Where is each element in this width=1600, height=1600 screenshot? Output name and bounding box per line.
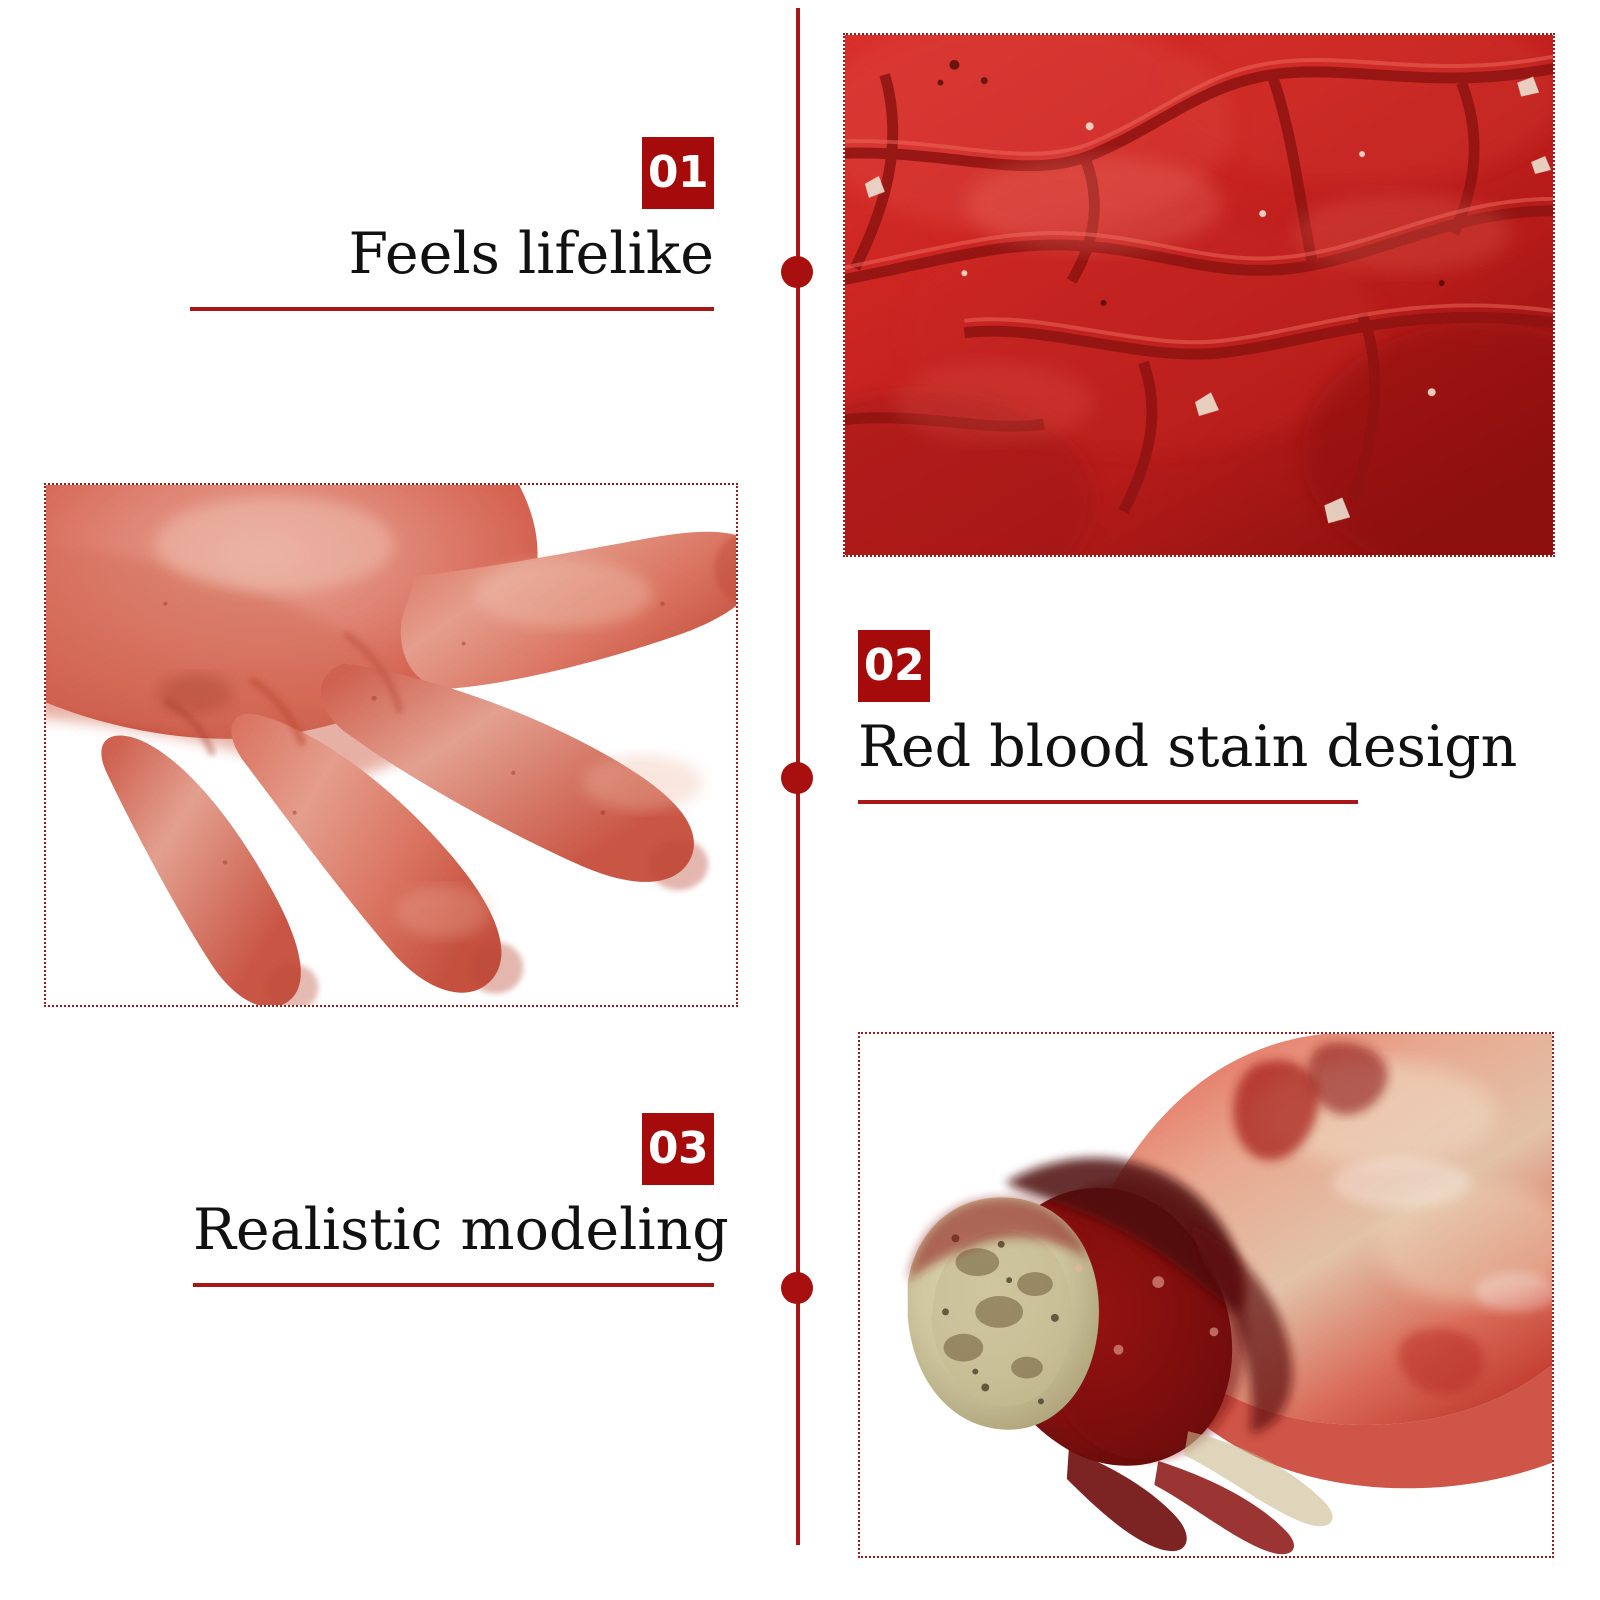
timeline-dot-03: [781, 1272, 813, 1304]
feature-rule-02: [858, 800, 1358, 804]
feature-block-02: 02 Red blood stain design: [858, 630, 1358, 804]
feature-title-01: Feels lifelike: [190, 223, 714, 287]
photo-frame-arm: [858, 1032, 1554, 1558]
feature-rule-01: [190, 307, 714, 311]
severed-arm-illustration: [860, 1034, 1552, 1556]
timeline-dot-01: [781, 256, 813, 288]
severed-hand-illustration: [46, 485, 736, 1005]
feature-block-03: 03 Realistic modeling: [193, 1113, 714, 1287]
photo-arm-image: [860, 1034, 1552, 1556]
blood-stain-texture-illustration: [845, 35, 1553, 555]
photo-brain-image: [845, 35, 1553, 555]
feature-title-03: Realistic modeling: [193, 1199, 714, 1263]
timeline-dot-02: [781, 762, 813, 794]
feature-badge-01: 01: [642, 137, 714, 209]
feature-badge-03: 03: [642, 1113, 714, 1185]
photo-frame-brain: [843, 33, 1555, 557]
feature-badge-02: 02: [858, 630, 930, 702]
photo-hand-image: [46, 485, 736, 1005]
photo-frame-hand: [44, 483, 738, 1007]
feature-block-01: 01 Feels lifelike: [190, 137, 714, 311]
feature-rule-03: [193, 1283, 714, 1287]
feature-title-02: Red blood stain design: [858, 716, 1358, 780]
